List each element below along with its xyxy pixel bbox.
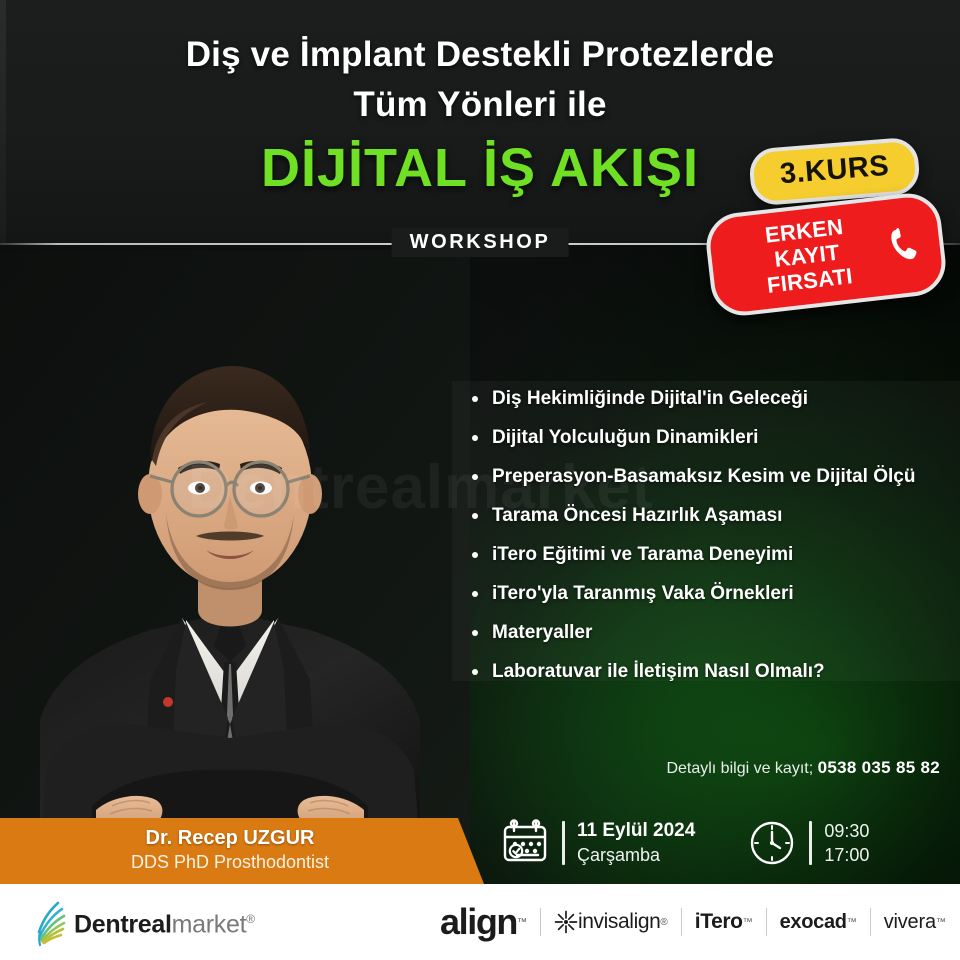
workshop-kicker: WORKSHOP — [392, 228, 569, 257]
dentrealmarket-logo[interactable]: Dentrealmarket® — [28, 898, 255, 946]
time-separator — [809, 821, 812, 865]
brand-invisalign[interactable]: invisalign® — [554, 910, 668, 934]
list-item: iTero Eğitimi ve Tarama Deneyimi — [470, 544, 960, 566]
brand-align[interactable]: align™ — [440, 904, 527, 940]
speaker-credentials: DDS PhD Prosthodontist — [0, 850, 460, 874]
list-item: iTero'yla Taranmış Vaka Örnekleri — [470, 583, 960, 605]
speaker-portrait-illustration — [0, 250, 470, 850]
brand-invisalign-tm: ® — [660, 917, 667, 928]
speaker-name-bar: Dr. Recep UZGUR DDS PhD Prosthodontist — [0, 818, 500, 884]
early-registration-text: ERKEN KAYIT FIRSATI — [728, 210, 886, 301]
topics-list: Diş Hekimliğinde Dijital'in Geleceği Dij… — [470, 388, 960, 700]
starburst-icon — [554, 910, 578, 934]
feather-wing-icon — [28, 898, 70, 946]
brand-vivera[interactable]: vivera™ — [884, 911, 946, 934]
brand-exocad-tm: ™ — [847, 917, 857, 928]
clock-icon — [747, 818, 797, 868]
brand-align-tm: ™ — [517, 917, 527, 928]
list-item: Laboratuvar ile İletişim Nasıl Olmalı? — [470, 661, 960, 683]
event-time-block: 09:30 17:00 — [747, 818, 869, 868]
speaker-photo — [0, 250, 470, 850]
event-weekday: Çarşamba — [577, 843, 695, 867]
brand-itero-label: iTero — [695, 910, 743, 934]
list-item: Tarama Öncesi Hazırlık Aşaması — [470, 505, 960, 527]
course-number-label: 3.KURS — [779, 150, 891, 190]
speaker-bar-text: Dr. Recep UZGUR DDS PhD Prosthodontist — [0, 826, 460, 874]
logo-name-light: market — [172, 911, 247, 939]
brand-align-label: align — [440, 904, 517, 940]
time-text: 09:30 17:00 — [824, 819, 869, 867]
list-item: Materyaller — [470, 622, 960, 644]
list-item: Dijital Yolculuğun Dinamikleri — [470, 427, 960, 449]
list-item: Preperasyon-Basamaksız Kesim ve Dijital … — [470, 466, 960, 488]
date-separator — [562, 821, 565, 865]
brand-divider — [681, 908, 682, 936]
brand-exocad[interactable]: exocad™ — [780, 911, 857, 934]
list-item: Diş Hekimliğinde Dijital'in Geleceği — [470, 388, 960, 410]
brand-divider — [870, 908, 871, 936]
brand-divider — [766, 908, 767, 936]
brand-vivera-tm: ™ — [936, 917, 946, 928]
logo-name-bold: Dentreal — [74, 911, 172, 939]
title-line-2: Tüm Yönleri ile — [0, 84, 960, 126]
contact-line: Detaylı bilgi ve kayıt; 0538 035 85 82 — [500, 758, 940, 778]
brand-exocad-label: exocad — [780, 911, 847, 934]
brand-divider — [540, 908, 541, 936]
dentrealmarket-wordmark: Dentrealmarket® — [74, 906, 255, 937]
poster-canvas: Diş ve İmplant Destekli Protezlerde Tüm … — [0, 0, 960, 960]
workshop-kicker-label: WORKSHOP — [410, 231, 551, 253]
logo-registered-mark: ® — [246, 912, 255, 926]
event-time-end: 17:00 — [824, 843, 869, 867]
brand-invisalign-label: invisalign — [578, 910, 660, 934]
brand-vivera-label: vivera — [884, 911, 936, 934]
title-line-1: Diş ve İmplant Destekli Protezlerde — [0, 34, 960, 76]
event-datetime-strip: 11 Eylül 2024 Çarşamba 09:30 — [500, 805, 960, 881]
partner-brand-logos: align™ invisalign® iTero™ — [440, 884, 946, 960]
brand-itero[interactable]: iTero™ — [695, 910, 753, 934]
event-date-block: 11 Eylül 2024 Çarşamba — [500, 818, 695, 868]
phone-icon — [883, 220, 928, 268]
contact-phone-number[interactable]: 0538 035 85 82 — [818, 758, 940, 777]
event-date: 11 Eylül 2024 — [577, 819, 695, 843]
brand-itero-tm: ™ — [743, 917, 753, 928]
date-text: 11 Eylül 2024 Çarşamba — [577, 819, 695, 867]
contact-label: Detaylı bilgi ve kayıt; — [666, 760, 813, 777]
calendar-icon — [500, 818, 550, 868]
event-time-start: 09:30 — [824, 819, 869, 843]
speaker-name: Dr. Recep UZGUR — [0, 826, 460, 850]
footer-bar: Dentrealmarket® align™ invisalign — [0, 884, 960, 960]
